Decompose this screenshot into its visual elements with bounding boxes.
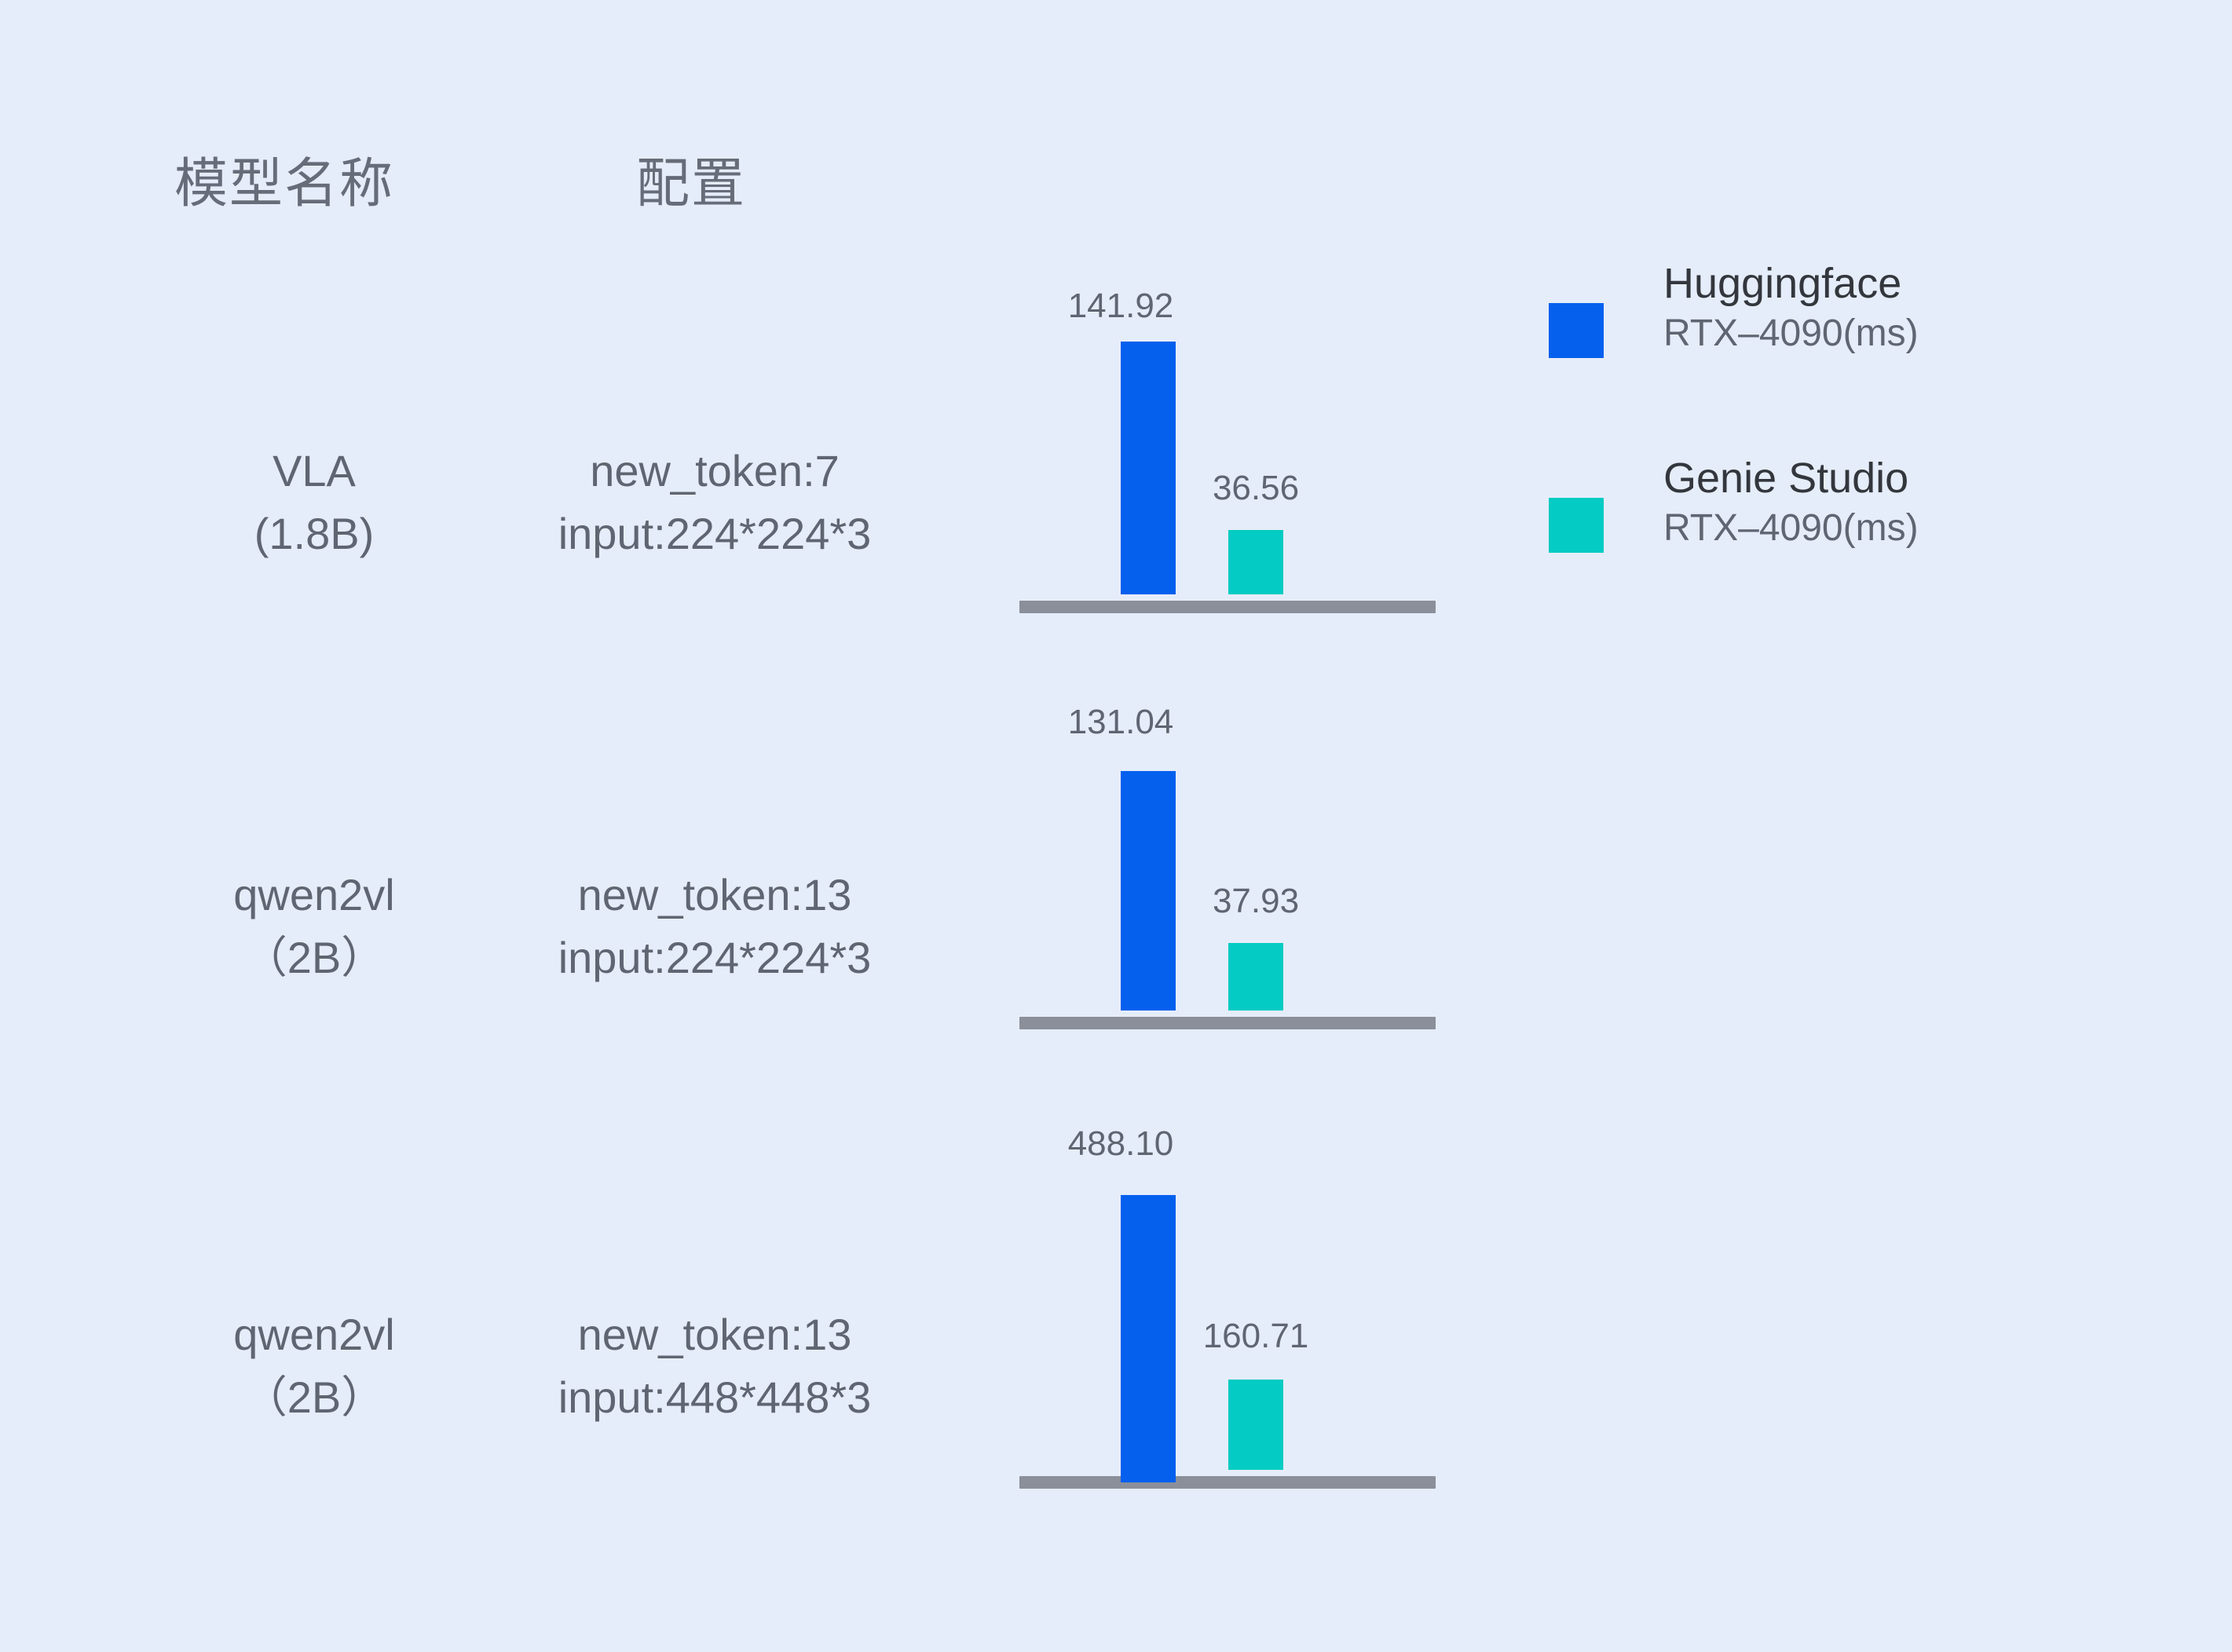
config-cell: new_token:7 input:224*224*3 — [495, 440, 935, 565]
model-name-line-2: （2B） — [126, 1366, 503, 1429]
chart-baseline — [1019, 1476, 1436, 1489]
config-line-1: new_token:13 — [495, 864, 935, 927]
legend-subtitle: RTX–4090(ms) — [1663, 504, 1919, 552]
model-name-line-1: qwen2vl — [126, 864, 503, 927]
config-line-2: input:224*224*3 — [495, 927, 935, 989]
model-name-line-1: VLA — [126, 440, 503, 503]
column-header-config: 配置 — [636, 140, 746, 217]
legend-swatch-blue-icon — [1549, 303, 1604, 358]
config-line-2: input:224*224*3 — [495, 503, 935, 565]
chart-canvas: 模型名称 配置 VLA (1.8B) new_token:7 input:224… — [0, 0, 2232, 1652]
bar-value-huggingface: 488.10 — [1019, 1124, 1223, 1164]
legend-subtitle: RTX–4090(ms) — [1663, 309, 1919, 357]
legend-title: Huggingface — [1663, 259, 1919, 309]
legend-swatch-teal-icon — [1549, 498, 1604, 553]
legend-text-group: Huggingface RTX–4090(ms) — [1663, 259, 1919, 357]
model-name-line-1: qwen2vl — [126, 1303, 503, 1366]
chart-baseline — [1019, 1017, 1436, 1029]
legend-title: Genie Studio — [1663, 454, 1919, 504]
model-name-cell: VLA (1.8B) — [126, 440, 503, 565]
model-name-cell: qwen2vl （2B） — [126, 864, 503, 989]
bar-huggingface[interactable] — [1121, 342, 1176, 594]
config-cell: new_token:13 input:224*224*3 — [495, 864, 935, 989]
model-name-cell: qwen2vl （2B） — [126, 1303, 503, 1428]
bar-genie-studio[interactable] — [1228, 1380, 1283, 1470]
model-name-line-2: (1.8B) — [126, 503, 503, 565]
bar-value-genie-studio: 36.56 — [1154, 469, 1358, 508]
bar-genie-studio[interactable] — [1228, 943, 1283, 1011]
config-cell: new_token:13 input:448*448*3 — [495, 1303, 935, 1428]
bar-value-genie-studio: 160.71 — [1154, 1317, 1358, 1356]
column-header-model-name: 模型名称 — [174, 140, 394, 217]
bar-genie-studio[interactable] — [1228, 530, 1283, 594]
config-line-2: input:448*448*3 — [495, 1366, 935, 1429]
chart-baseline — [1019, 601, 1436, 613]
bar-value-genie-studio: 37.93 — [1154, 882, 1358, 921]
legend-text-group: Genie Studio RTX–4090(ms) — [1663, 454, 1919, 552]
bar-value-huggingface: 131.04 — [1019, 703, 1223, 742]
config-line-1: new_token:13 — [495, 1303, 935, 1366]
bar-value-huggingface: 141.92 — [1019, 287, 1223, 326]
config-line-1: new_token:7 — [495, 440, 935, 503]
model-name-line-2: （2B） — [126, 927, 503, 989]
